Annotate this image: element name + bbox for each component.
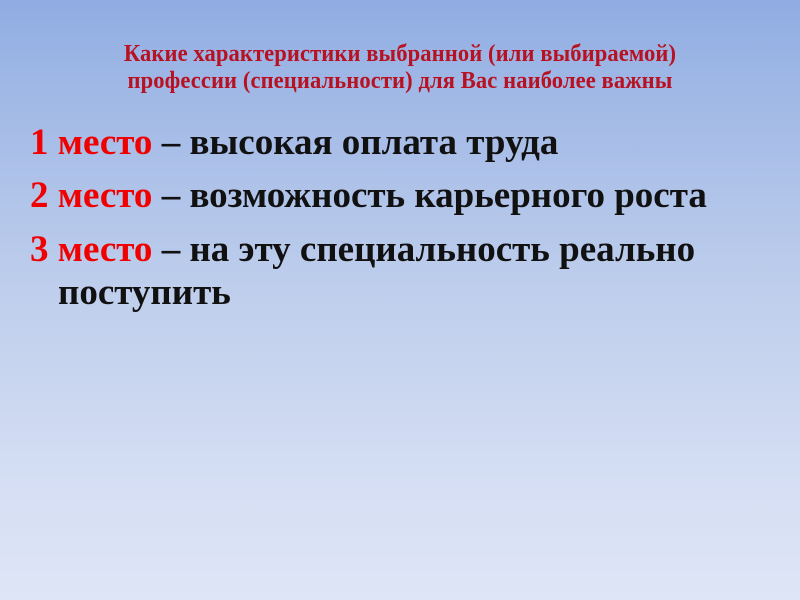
list-item: 1 место – высокая оплата труда [30,121,780,164]
list-item-separator: – [152,122,189,163]
list-item-text: высокая оплата труда [189,122,558,163]
slide-body-list: 1 место – высокая оплата труда 2 место –… [30,121,780,324]
list-item-rank: 3 место [30,229,152,270]
list-item-rank: 1 место [30,122,152,163]
list-item-rank: 2 место [30,175,152,216]
list-item-separator: – [152,175,189,216]
slide-title: Какие характеристики выбранной (или выби… [0,41,800,95]
list-item: 3 место – на эту специальность реально п… [30,228,780,315]
slide-title-line-2: профессии (специальности) для Вас наибол… [24,68,776,95]
list-item-separator: – [152,229,189,270]
list-item-text: возможность карьерного роста [189,175,706,216]
presentation-slide: Какие характеристики выбранной (или выби… [0,0,800,600]
slide-title-line-1: Какие характеристики выбранной (или выби… [24,41,776,68]
list-item: 2 место – возможность карьерного роста [30,174,780,217]
